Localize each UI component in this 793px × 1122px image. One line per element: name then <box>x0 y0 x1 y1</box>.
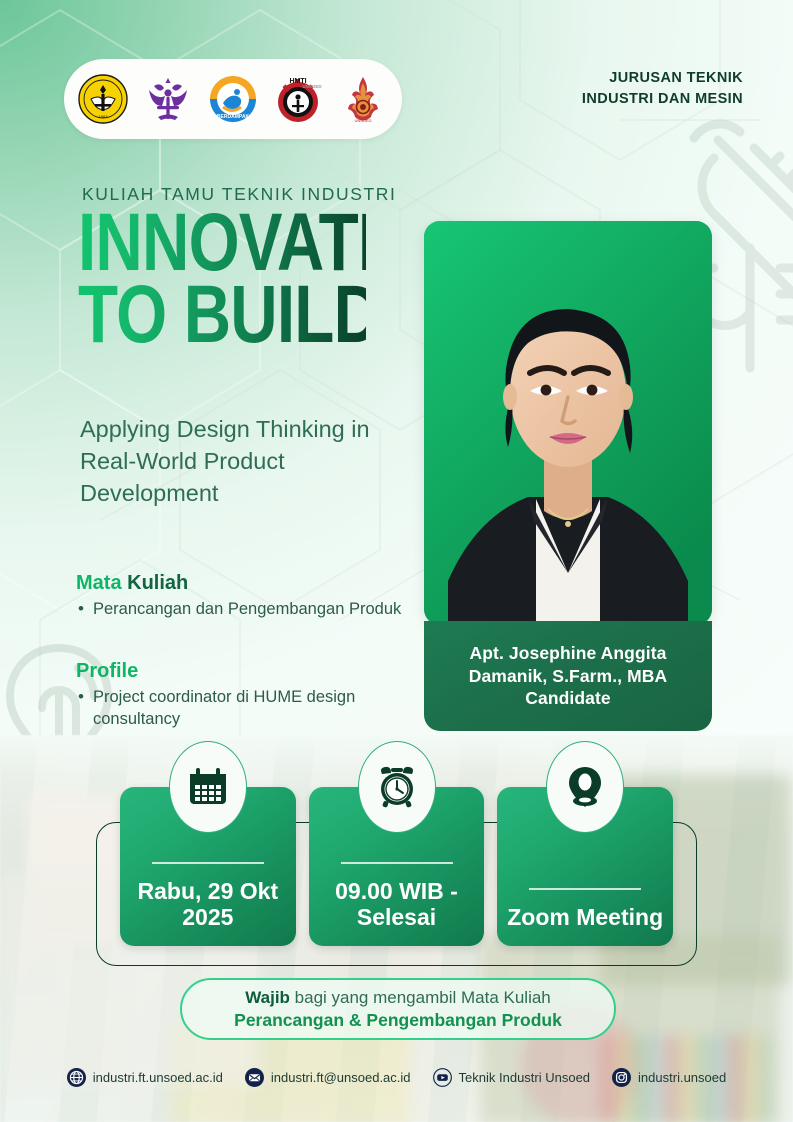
card-divider <box>341 862 453 864</box>
hmti-unsoed-logo: HMTI UNSOED <box>272 73 324 125</box>
info-card-location[interactable]: Zoom Meeting <box>497 787 673 946</box>
department-line-1: JURUSAN TEKNIK <box>582 68 743 89</box>
info-card-date[interactable]: Rabu, 29 Okt 2025 <box>120 787 296 946</box>
footer-item-youtube[interactable]: Teknik Industri Unsoed <box>433 1068 591 1087</box>
detail-list: Perancangan dan Pengembangan Produk <box>76 599 406 621</box>
info-card-text: 09.00 WIB - Selesai <box>309 878 485 930</box>
notice-line-1-rest: bagi yang mengambil Mata Kuliah <box>290 988 551 1007</box>
page-subtitle: Applying Design Thinking in Real-World P… <box>80 414 410 510</box>
info-card-text: Rabu, 29 Okt 2025 <box>120 878 296 930</box>
youtube-icon <box>433 1068 452 1087</box>
department-label: JURUSAN TEKNIK INDUSTRI DAN MESIN <box>582 68 743 109</box>
card-divider <box>152 862 264 864</box>
svg-text:UNSOED: UNSOED <box>354 118 371 123</box>
detail-list: Project coordinator di HUME design consu… <box>76 687 406 731</box>
svg-text:BERDAMPAK: BERDAMPAK <box>217 114 250 120</box>
detail-heading-rest: Kuliah <box>122 572 189 594</box>
page-title: INNOVATE TO BUILD <box>78 209 366 349</box>
speaker-name: Apt. Josephine Anggita Damanik, S.Farm.,… <box>438 642 698 710</box>
footer-item-label: industri.ft@unsoed.ac.id <box>271 1070 411 1085</box>
info-card-text: Zoom Meeting <box>507 904 663 930</box>
footer-item-email[interactable]: industri.ft@unsoed.ac.id <box>245 1068 411 1087</box>
alarm-clock-icon <box>358 741 436 833</box>
poster-canvas: 1963 <box>0 0 793 1122</box>
notice-pill: Wajib bagi yang mengambil Mata Kuliah Pe… <box>180 978 616 1040</box>
list-item: Project coordinator di HUME design consu… <box>76 687 406 731</box>
calendar-icon <box>169 741 247 833</box>
detail-block-mata-kuliah: Mata Kuliah Perancangan dan Pengembangan… <box>76 572 406 621</box>
teknik-unsoed-logo: UNSOED <box>337 73 389 125</box>
card-divider <box>529 888 641 890</box>
title-line-1: INNOVATE <box>78 209 366 277</box>
notice-line-1: Wajib bagi yang mengambil Mata Kuliah <box>245 987 551 1009</box>
notice-line-2: Perancangan & Pengembangan Produk <box>234 1009 562 1031</box>
email-icon <box>245 1068 264 1087</box>
speaker-name-card: Apt. Josephine Anggita Damanik, S.Farm.,… <box>424 621 712 731</box>
detail-heading-accent: Profile <box>76 660 138 682</box>
diktisaintek-berdampak-logo: BERDAMPAK <box>207 73 259 125</box>
location-pin-icon <box>546 741 624 833</box>
info-card-time[interactable]: 09.00 WIB - Selesai <box>309 787 485 946</box>
detail-heading: Mata Kuliah <box>76 572 406 595</box>
list-item: Perancangan dan Pengembangan Produk <box>76 599 406 621</box>
tut-wuri-handayani-logo <box>142 73 194 125</box>
detail-heading-accent: Mata <box>76 572 122 594</box>
footer-item-label: Teknik Industri Unsoed <box>459 1070 591 1085</box>
notice-bold-word: Wajib <box>245 988 290 1007</box>
footer-item-label: industri.unsoed <box>638 1070 726 1085</box>
title-line-2: TO BUILD <box>78 281 366 349</box>
footer-item-label: industri.ft.unsoed.ac.id <box>93 1070 223 1085</box>
institution-logo-bar: 1963 <box>64 59 402 139</box>
detail-heading: Profile <box>76 660 406 683</box>
globe-icon <box>67 1068 86 1087</box>
instagram-icon <box>612 1068 631 1087</box>
svg-text:UNSOED: UNSOED <box>302 84 322 89</box>
svg-text:1963: 1963 <box>99 114 109 119</box>
footer-contact-bar: industri.ft.unsoed.ac.id industri.ft@uns… <box>0 1068 793 1087</box>
speaker-photo <box>424 221 712 625</box>
detail-block-profile: Profile Project coordinator di HUME desi… <box>76 660 406 731</box>
info-card-row: Rabu, 29 Okt 2025 <box>120 787 673 946</box>
footer-item-instagram[interactable]: industri.unsoed <box>612 1068 726 1087</box>
footer-item-website[interactable]: industri.ft.unsoed.ac.id <box>67 1068 223 1087</box>
department-line-2: INDUSTRI DAN MESIN <box>582 89 743 110</box>
speaker-portrait-illustration <box>424 221 712 625</box>
unsoed-logo: 1963 <box>77 73 129 125</box>
